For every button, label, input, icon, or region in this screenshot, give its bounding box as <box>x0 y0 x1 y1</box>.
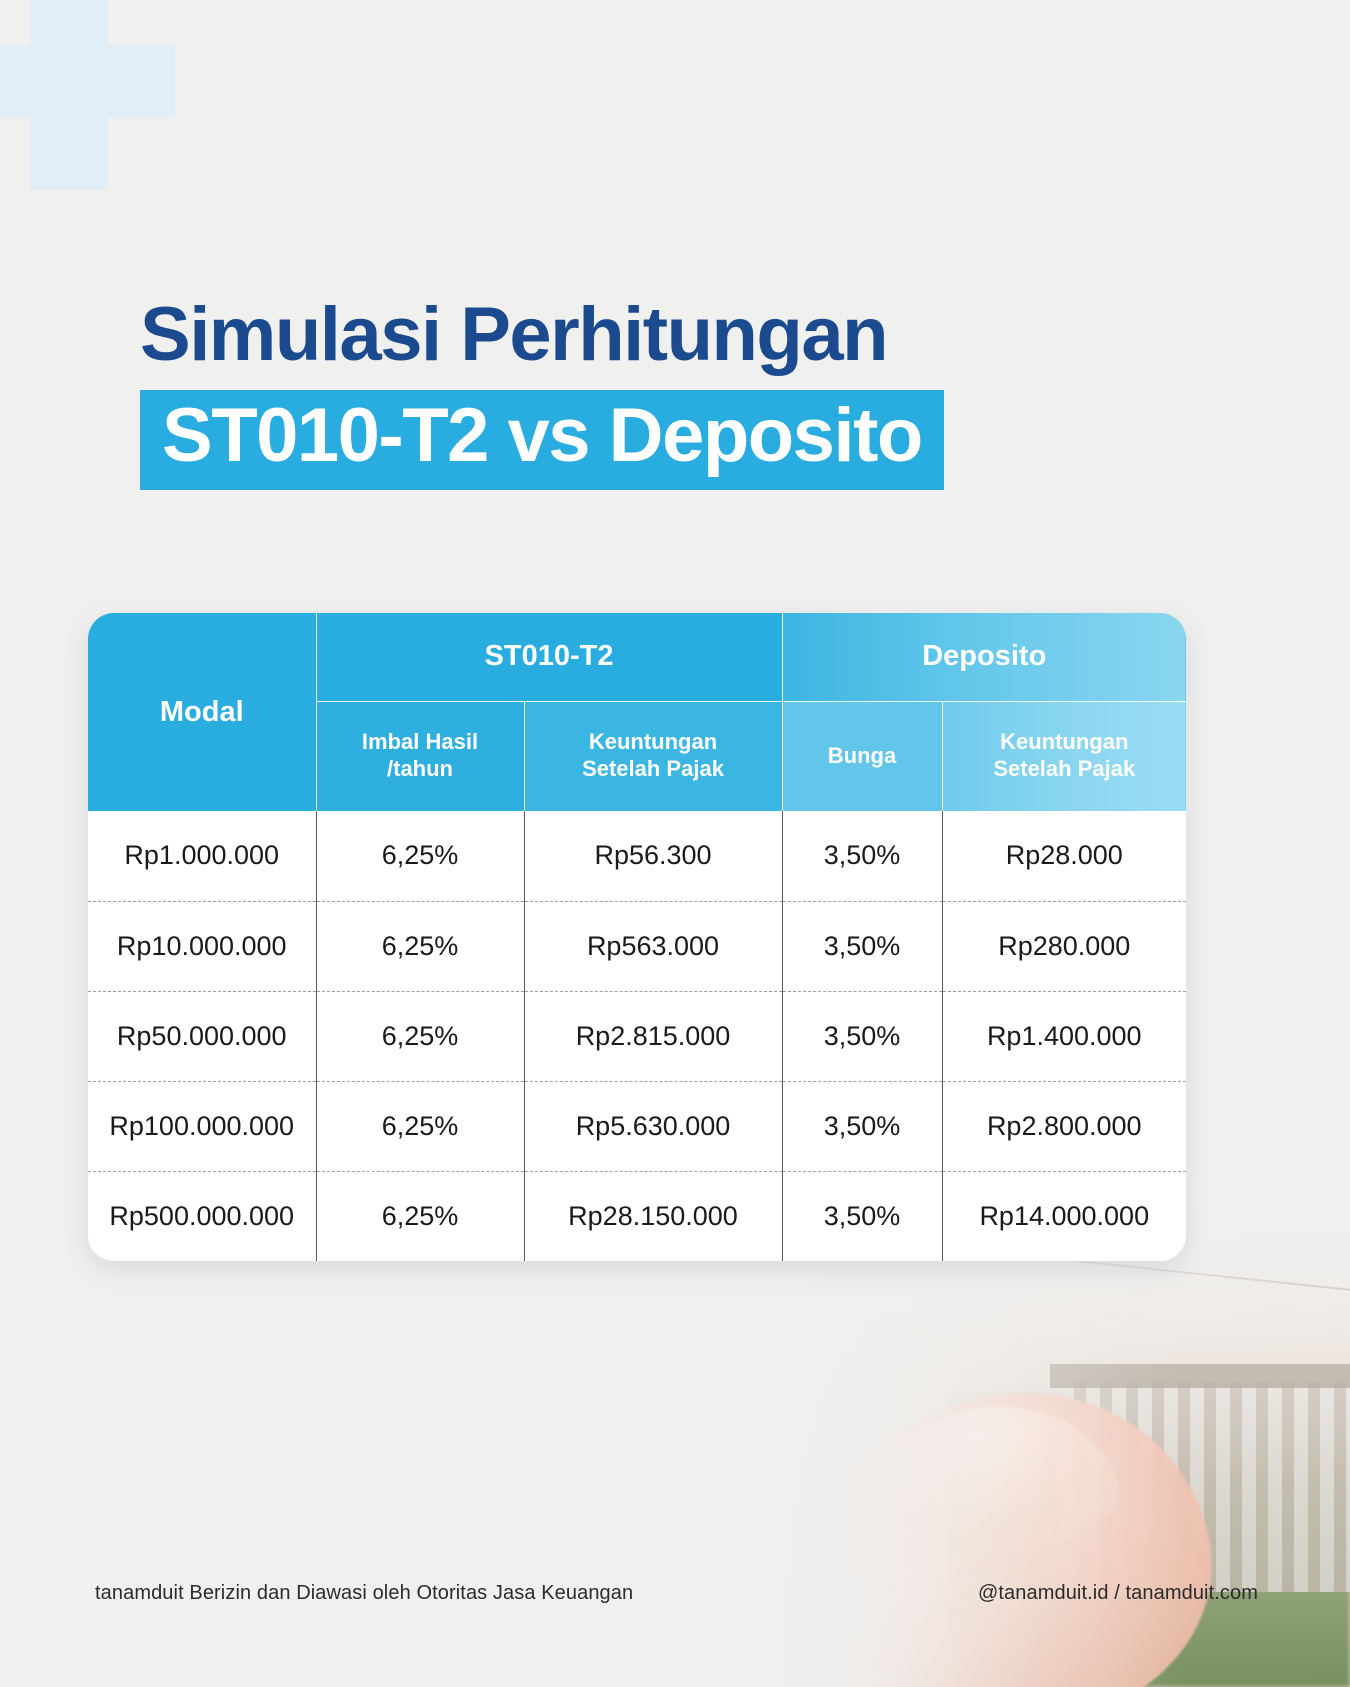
header-group-st010: ST010-T2 <box>316 613 782 701</box>
headline-line-2: ST010-T2 vs Deposito <box>162 396 922 477</box>
header-modal: Modal <box>88 613 316 811</box>
cross-horizontal-bar <box>0 45 175 117</box>
cell-modal: Rp100.000.000 <box>88 1081 316 1171</box>
table-row: Rp50.000.000 6,25% Rp2.815.000 3,50% Rp1… <box>88 991 1186 1081</box>
cross-vertical-bar <box>30 0 108 190</box>
cell-keuntungan-deposito: Rp1.400.000 <box>942 991 1186 1081</box>
header-keuntungan-st010-line2: Setelah Pajak <box>582 756 724 781</box>
cell-keuntungan-st010: Rp5.630.000 <box>524 1081 782 1171</box>
cell-modal: Rp1.000.000 <box>88 811 316 901</box>
cell-imbal-hasil: 6,25% <box>316 811 524 901</box>
table-row: Rp500.000.000 6,25% Rp28.150.000 3,50% R… <box>88 1171 1186 1261</box>
photo-hand <box>765 1363 1236 1687</box>
cell-keuntungan-deposito: Rp28.000 <box>942 811 1186 901</box>
cell-keuntungan-deposito: Rp2.800.000 <box>942 1081 1186 1171</box>
header-bunga: Bunga <box>782 701 942 811</box>
headline-highlight-band: ST010-T2 vs Deposito <box>140 390 944 491</box>
headline-line-1: Simulasi Perhitungan <box>140 295 1210 376</box>
footer-disclaimer: tanamduit Berizin dan Diawasi oleh Otori… <box>95 1582 633 1605</box>
header-keuntungan-deposito-line1: Keuntungan <box>1000 729 1128 754</box>
header-group-deposito: Deposito <box>782 613 1186 701</box>
cell-bunga: 3,50% <box>782 1081 942 1171</box>
table-row: Rp1.000.000 6,25% Rp56.300 3,50% Rp28.00… <box>88 811 1186 901</box>
cell-imbal-hasil: 6,25% <box>316 1171 524 1261</box>
table-head: Modal ST010-T2 Deposito Imbal Hasil /tah… <box>88 613 1186 811</box>
cell-imbal-hasil: 6,25% <box>316 901 524 991</box>
cell-bunga: 3,50% <box>782 991 942 1081</box>
header-keuntungan-st010-line1: Keuntungan <box>589 729 717 754</box>
photo-greenery <box>950 1387 1350 1687</box>
footer-social-handle: @tanamduit.id / tanamduit.com <box>978 1582 1258 1605</box>
header-imbal-hasil-line1: Imbal Hasil <box>362 729 478 754</box>
table-head-row-groups: Modal ST010-T2 Deposito <box>88 613 1186 701</box>
header-imbal-hasil: Imbal Hasil /tahun <box>316 701 524 811</box>
header-keuntungan-deposito-line2: Setelah Pajak <box>993 756 1135 781</box>
table-body: Rp1.000.000 6,25% Rp56.300 3,50% Rp28.00… <box>88 811 1186 1261</box>
cell-modal: Rp50.000.000 <box>88 991 316 1081</box>
cell-keuntungan-st010: Rp2.815.000 <box>524 991 782 1081</box>
cell-keuntungan-st010: Rp563.000 <box>524 901 782 991</box>
table-row: Rp100.000.000 6,25% Rp5.630.000 3,50% Rp… <box>88 1081 1186 1171</box>
cell-bunga: 3,50% <box>782 901 942 991</box>
cell-keuntungan-st010: Rp56.300 <box>524 811 782 901</box>
cell-imbal-hasil: 6,25% <box>316 1081 524 1171</box>
decorative-cross-shape <box>0 0 180 190</box>
cell-keuntungan-deposito: Rp280.000 <box>942 901 1186 991</box>
cell-bunga: 3,50% <box>782 811 942 901</box>
photo-building <box>1060 1382 1350 1592</box>
comparison-table-card: Modal ST010-T2 Deposito Imbal Hasil /tah… <box>88 613 1186 1261</box>
header-keuntungan-st010: Keuntungan Setelah Pajak <box>524 701 782 811</box>
poster-canvas: Simulasi Perhitungan ST010-T2 vs Deposit… <box>0 0 1350 1687</box>
header-keuntungan-deposito: Keuntungan Setelah Pajak <box>942 701 1186 811</box>
header-imbal-hasil-line2: /tahun <box>387 756 453 781</box>
comparison-table: Modal ST010-T2 Deposito Imbal Hasil /tah… <box>88 613 1186 1261</box>
cell-bunga: 3,50% <box>782 1171 942 1261</box>
table-row: Rp10.000.000 6,25% Rp563.000 3,50% Rp280… <box>88 901 1186 991</box>
cell-imbal-hasil: 6,25% <box>316 991 524 1081</box>
cell-modal: Rp500.000.000 <box>88 1171 316 1261</box>
cell-keuntungan-deposito: Rp14.000.000 <box>942 1171 1186 1261</box>
headline-block: Simulasi Perhitungan ST010-T2 vs Deposit… <box>140 295 1210 490</box>
cell-keuntungan-st010: Rp28.150.000 <box>524 1171 782 1261</box>
cell-modal: Rp10.000.000 <box>88 901 316 991</box>
